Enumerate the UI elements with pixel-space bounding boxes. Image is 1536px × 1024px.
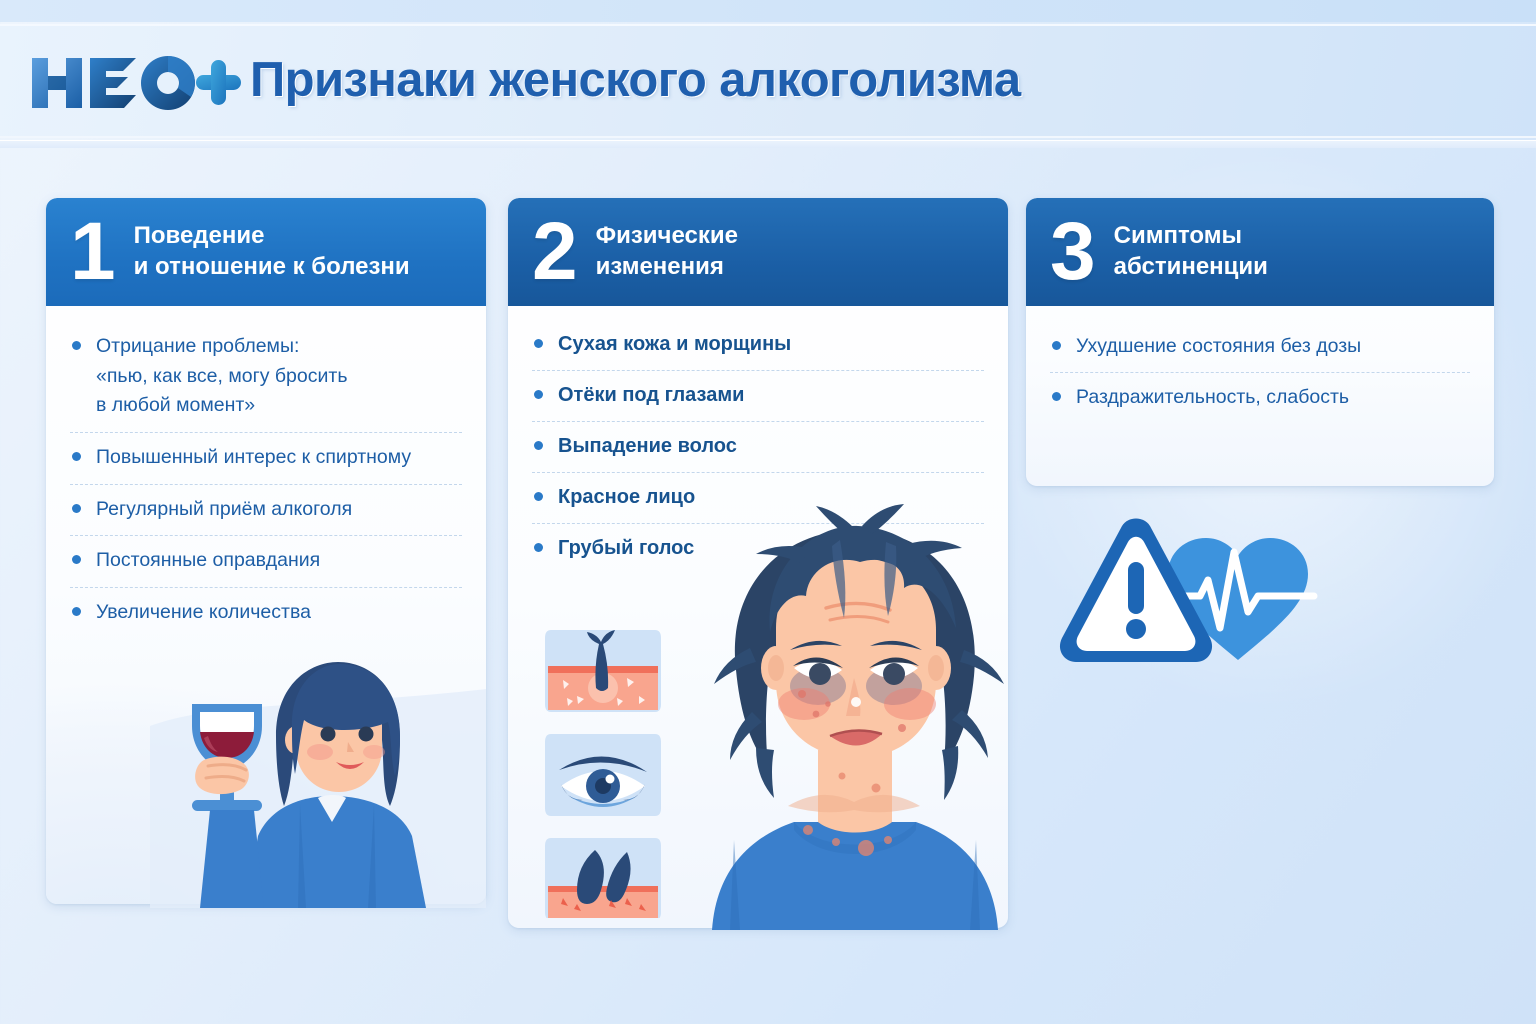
bullet-dot-icon bbox=[534, 492, 543, 501]
list-item: Повышенный интерес к спиртному bbox=[70, 443, 462, 485]
card-behaviour: 1 Поведение и отношение к болезни Отрица… bbox=[46, 198, 486, 904]
card-title-3-line1: Симптомы bbox=[1114, 221, 1268, 252]
divider bbox=[70, 484, 462, 485]
bullet-dot-icon bbox=[534, 441, 543, 450]
bullet-dot-icon bbox=[72, 607, 81, 616]
list-item: Постоянные оправдания bbox=[70, 546, 462, 588]
bullet-text: Сухая кожа и морщины bbox=[558, 330, 984, 359]
card-header-1: 1 Поведение и отношение к болезни bbox=[46, 198, 486, 306]
divider bbox=[70, 587, 462, 588]
list-item: Отрицание проблемы:«пью, как все, могу б… bbox=[70, 332, 462, 433]
list-item: Отёки под глазами bbox=[532, 381, 984, 422]
bullet-text: Грубый голос bbox=[558, 534, 984, 563]
card-title-2-line1: Физические bbox=[596, 221, 738, 252]
list-item: Регулярный приём алкоголя bbox=[70, 495, 462, 537]
list-item: Выпадение волос bbox=[532, 432, 984, 473]
card-title-3-line2: абстиненции bbox=[1114, 252, 1268, 283]
bullet-dot-icon bbox=[534, 543, 543, 552]
divider bbox=[532, 370, 984, 371]
bullet-text: Выпадение волос bbox=[558, 432, 984, 461]
card-physical-changes: 2 Физические изменения Сухая кожа и морщ… bbox=[508, 198, 1008, 928]
heart-icon bbox=[1168, 538, 1314, 660]
divider bbox=[70, 432, 462, 433]
bullet-dot-icon bbox=[72, 341, 81, 350]
card-body-3: Ухудшение состояния без дозы Раздражител… bbox=[1026, 306, 1494, 413]
bullet-text: Раздражительность, слабость bbox=[1076, 383, 1470, 412]
neo-plus-logo bbox=[28, 52, 243, 114]
bullet-dot-icon bbox=[72, 452, 81, 461]
card-number-3: 3 bbox=[1050, 218, 1096, 285]
card-body-1: Отрицание проблемы:«пью, как все, могу б… bbox=[46, 306, 486, 627]
card-title-2-line2: изменения bbox=[596, 252, 738, 283]
bullet-list-1: Отрицание проблемы:«пью, как все, могу б… bbox=[70, 332, 462, 627]
bullet-text: Отрицание проблемы:«пью, как все, могу б… bbox=[96, 332, 462, 421]
bullet-text: Красное лицо bbox=[558, 483, 984, 512]
list-item: Увеличение количества bbox=[70, 598, 462, 628]
card-title-2: Физические изменения bbox=[596, 221, 738, 282]
card-title-3: Симптомы абстиненции bbox=[1114, 221, 1268, 282]
top-accent-strip bbox=[0, 0, 1536, 22]
bullet-dot-icon bbox=[534, 390, 543, 399]
card-body-2: Сухая кожа и морщины Отёки под глазами В… bbox=[508, 306, 1008, 563]
list-item: Красное лицо bbox=[532, 483, 984, 524]
bullet-text: Отёки под глазами bbox=[558, 381, 984, 410]
card-header-2: 2 Физические изменения bbox=[508, 198, 1008, 306]
card-title-1: Поведение и отношение к болезни bbox=[134, 221, 410, 282]
divider bbox=[532, 421, 984, 422]
bullet-dot-icon bbox=[1052, 341, 1061, 350]
bullet-dot-icon bbox=[72, 504, 81, 513]
bullet-dot-icon bbox=[72, 555, 81, 564]
bullet-dot-icon bbox=[534, 339, 543, 348]
page-title: Признаки женского алкоголизма bbox=[250, 52, 1021, 108]
divider bbox=[1050, 372, 1470, 373]
header-divider bbox=[0, 140, 1536, 148]
bullet-list-3: Ухудшение состояния без дозы Раздражител… bbox=[1050, 332, 1470, 413]
bullet-text: Ухудшение состояния без дозы bbox=[1076, 332, 1470, 361]
bullet-text: Постоянные оправдания bbox=[96, 546, 462, 576]
card-header-3: 3 Симптомы абстиненции bbox=[1026, 198, 1494, 306]
warning-and-heartbeat-illustration bbox=[1052, 512, 1328, 677]
card-title-1-line2: и отношение к болезни bbox=[134, 252, 410, 283]
card-title-1-line1: Поведение bbox=[134, 221, 410, 252]
list-item: Ухудшение состояния без дозы bbox=[1050, 332, 1470, 373]
warning-triangle-icon bbox=[1060, 519, 1212, 663]
divider bbox=[532, 523, 984, 524]
bullet-text: Повышенный интерес к спиртному bbox=[96, 443, 462, 473]
divider bbox=[532, 472, 984, 473]
bullet-text: Регулярный приём алкоголя bbox=[96, 495, 462, 525]
divider bbox=[70, 535, 462, 536]
list-item: Раздражительность, слабость bbox=[1050, 383, 1470, 412]
card-withdrawal-symptoms: 3 Симптомы абстиненции Ухудшение состоян… bbox=[1026, 198, 1494, 486]
bullet-dot-icon bbox=[1052, 392, 1061, 401]
list-item: Грубый голос bbox=[532, 534, 984, 563]
bullet-text: Увеличение количества bbox=[96, 598, 462, 628]
list-item: Сухая кожа и морщины bbox=[532, 330, 984, 371]
card-number-2: 2 bbox=[532, 218, 578, 285]
card-number-1: 1 bbox=[70, 218, 116, 285]
bullet-list-2: Сухая кожа и морщины Отёки под глазами В… bbox=[532, 330, 984, 563]
card-wave-decoration bbox=[46, 644, 486, 904]
